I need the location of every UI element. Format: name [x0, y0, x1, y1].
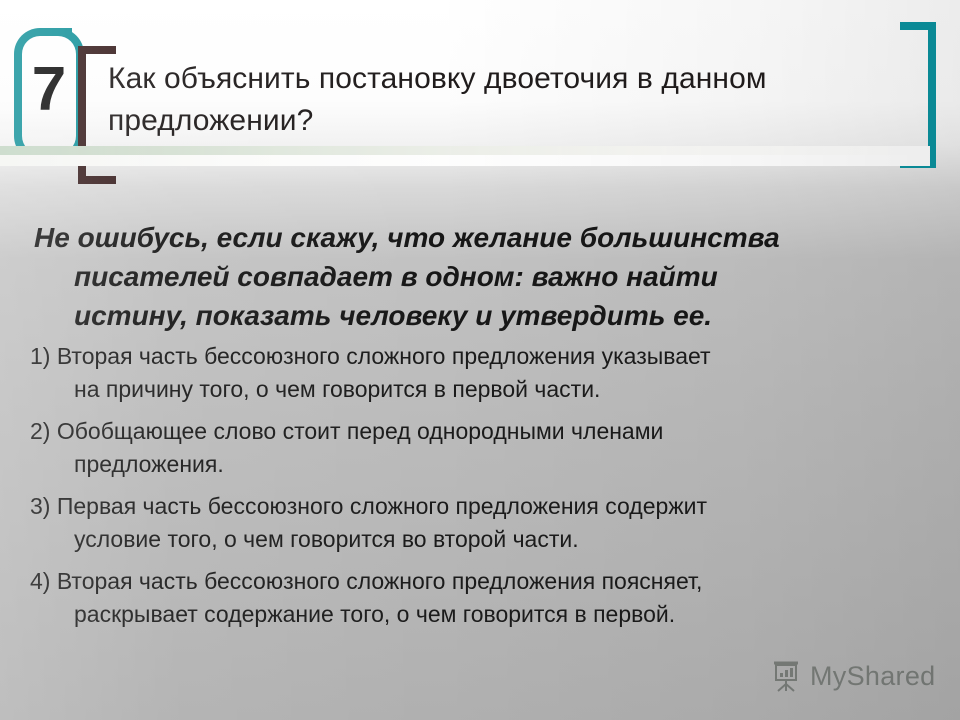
answer-option-4-line-1: 4) Вторая часть бессоюзного сложного пре… [30, 565, 930, 598]
quote-line-1: Не ошибусь, если скажу, что желание боль… [34, 218, 924, 257]
answer-option-3-line-1: 3) Первая часть бессоюзного сложного пре… [30, 490, 930, 523]
answer-option-2[interactable]: 2) Обобщающее слово стоит перед однородн… [30, 415, 930, 481]
quoted-sentence: Не ошибусь, если скажу, что желание боль… [34, 218, 924, 335]
answer-option-1[interactable]: 1) Вторая часть бессоюзного сложного пре… [30, 340, 930, 406]
answer-option-1-line-2: на причину того, о чем говорится в перво… [30, 373, 930, 406]
page-title-line-1: Как объяснить постановку двоеточия в [108, 62, 653, 95]
answer-option-3-line-2: условие того, о чем говорится во второй … [30, 523, 930, 556]
watermark-label: MyShared [810, 661, 935, 692]
answer-options-list: 1) Вторая часть бессоюзного сложного пре… [30, 340, 930, 640]
myshared-watermark: MyShared [772, 660, 935, 692]
answer-option-4-line-2: раскрывает содержание того, о чем говори… [30, 598, 930, 631]
header-divider-white [0, 155, 930, 166]
quote-line-2: писателей совпадает в одном: важно найти [34, 257, 924, 296]
answer-option-3[interactable]: 3) Первая часть бессоюзного сложного пре… [30, 490, 930, 556]
slide-canvas: 7 Как объяснить постановку двоеточия в д… [0, 0, 960, 720]
header-divider-band [0, 146, 930, 155]
answer-option-2-line-2: предложения. [30, 448, 930, 481]
answer-option-4[interactable]: 4) Вторая часть бессоюзного сложного пре… [30, 565, 930, 631]
slide-number: 7 [25, 44, 73, 136]
quote-line-3: истину, показать человеку и утвердить ее… [34, 296, 924, 335]
answer-option-1-line-1: 1) Вторая часть бессоюзного сложного пре… [30, 340, 930, 373]
answer-option-2-line-1: 2) Обобщающее слово стоит перед однородн… [30, 415, 930, 448]
page-title: Как объяснить постановку двоеточия в дан… [108, 58, 818, 142]
slide-header: 7 Как объяснить постановку двоеточия в д… [0, 0, 960, 168]
presentation-board-icon [772, 660, 802, 692]
